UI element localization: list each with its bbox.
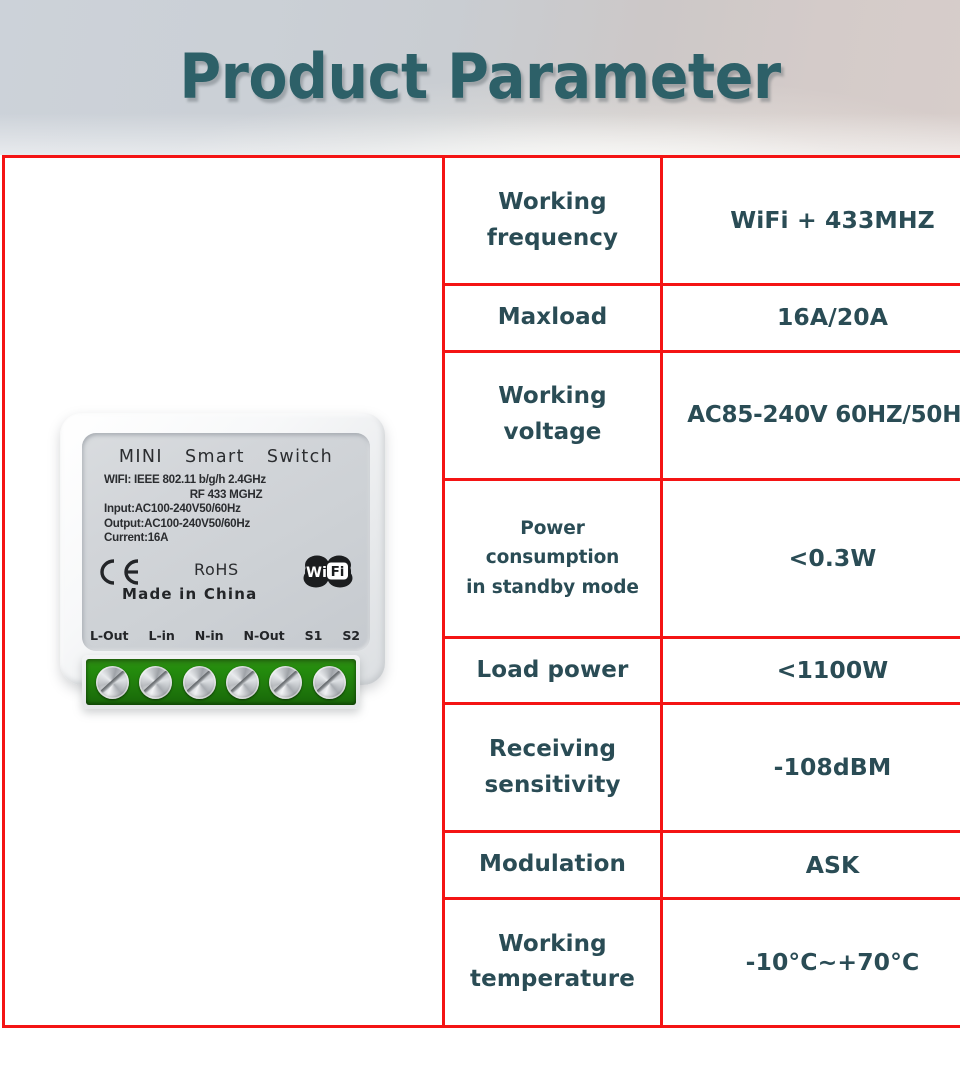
spec-label-line-1: Maxload xyxy=(451,300,654,336)
mini-smart-switch-photo: MINI Smart Switch WIFI: IEEE 802.11 b/g/… xyxy=(11,158,436,1025)
spec-label-line-2: in standby mode xyxy=(451,573,654,603)
device-spec-line-wifi: WIFI: IEEE 802.11 b/g/h 2.4GHz xyxy=(104,473,370,488)
device-brand-smart: Smart xyxy=(185,447,245,467)
spec-label-line-2: sensitivity xyxy=(451,768,654,804)
spec-value-working-temperature: -10°C~+70°C xyxy=(662,898,960,1026)
terminal-label-n-in: N-in xyxy=(195,628,224,643)
spec-label-line-2: voltage xyxy=(451,415,654,451)
device-spec-line-rf: RF 433 MGHZ xyxy=(104,488,370,503)
made-in-china-text: Made in China xyxy=(122,585,257,603)
spec-value-maxload: 16A/20A xyxy=(662,285,960,352)
terminal-screw xyxy=(269,666,302,699)
page-title: Product Parameter xyxy=(38,42,921,112)
device-body: MINI Smart Switch WIFI: IEEE 802.11 b/g/… xyxy=(54,413,399,733)
svg-text:Wi: Wi xyxy=(306,565,327,581)
device-spec-text: WIFI: IEEE 802.11 b/g/h 2.4GHz RF 433 MG… xyxy=(82,473,370,546)
product-image-cell: MINI Smart Switch WIFI: IEEE 802.11 b/g/… xyxy=(4,157,444,1027)
terminal-label-l-in: L-in xyxy=(149,628,175,643)
terminal-green-strip xyxy=(86,659,356,705)
spec-value-working-voltage: AC85-240V 60HZ/50HZ xyxy=(662,351,960,479)
spec-label-line-1: Power consumption xyxy=(451,514,654,573)
spec-label-working-frequency: Working frequency xyxy=(444,157,662,285)
terminal-screw xyxy=(313,666,346,699)
terminal-block xyxy=(82,655,360,709)
device-brand-switch: Switch xyxy=(267,447,333,467)
spec-label-line-1: Working xyxy=(451,927,654,963)
svg-text:Fi: Fi xyxy=(331,564,345,580)
spec-label-receiving-sensitivity: Receiving sensitivity xyxy=(444,704,662,832)
spec-label-maxload: Maxload xyxy=(444,285,662,352)
spec-label-line-1: Working xyxy=(451,379,654,415)
device-certification-marks: RoHS xyxy=(82,551,370,603)
spec-table-body: MINI Smart Switch WIFI: IEEE 802.11 b/g/… xyxy=(4,157,960,1027)
table-row: MINI Smart Switch WIFI: IEEE 802.11 b/g/… xyxy=(4,157,960,285)
terminal-label-s2: S2 xyxy=(342,628,360,643)
spec-label-load-power: Load power xyxy=(444,637,662,704)
device-brand-line: MINI Smart Switch xyxy=(82,447,370,467)
spec-value-working-frequency: WiFi + 433MHZ xyxy=(662,157,960,285)
spec-label-line-1: Working xyxy=(451,185,654,221)
terminal-label-row: L-Out L-in N-in N-Out S1 S2 xyxy=(82,628,370,643)
spec-label-line-1: Receiving xyxy=(451,732,654,768)
product-parameter-page: Product Parameter MINI Smart xyxy=(0,0,960,1072)
terminal-screw xyxy=(96,666,129,699)
device-brand-mini: MINI xyxy=(119,447,163,467)
spec-label-line-2: frequency xyxy=(451,221,654,257)
ce-mark-icon xyxy=(96,557,142,587)
spec-value-modulation: ASK xyxy=(662,832,960,899)
spec-value-standby-power: <0.3W xyxy=(662,479,960,637)
terminal-screw xyxy=(183,666,216,699)
spec-label-line-1: Modulation xyxy=(451,847,654,883)
spec-value-load-power: <1100W xyxy=(662,637,960,704)
terminal-label-l-out: L-Out xyxy=(90,628,128,643)
spec-value-receiving-sensitivity: -108dBM xyxy=(662,704,960,832)
spec-label-line-2: temperature xyxy=(451,962,654,998)
terminal-label-n-out: N-Out xyxy=(244,628,285,643)
spec-label-working-temperature: Working temperature xyxy=(444,898,662,1026)
terminal-label-s1: S1 xyxy=(305,628,323,643)
spec-label-standby-power: Power consumption in standby mode xyxy=(444,479,662,637)
wifi-logo-icon: Wi Fi xyxy=(300,553,356,590)
device-spec-line-output: Output:AC100-240V50/60Hz xyxy=(104,517,370,532)
device-spec-line-input: Input:AC100-240V50/60Hz xyxy=(104,502,370,517)
device-label-face: MINI Smart Switch WIFI: IEEE 802.11 b/g/… xyxy=(82,433,370,651)
terminal-screw xyxy=(226,666,259,699)
device-spec-line-current: Current:16A xyxy=(104,531,370,546)
device-shell: MINI Smart Switch WIFI: IEEE 802.11 b/g/… xyxy=(60,413,385,685)
rohs-mark: RoHS xyxy=(194,560,239,579)
spec-table: MINI Smart Switch WIFI: IEEE 802.11 b/g/… xyxy=(2,155,960,1028)
header-banner: Product Parameter xyxy=(0,0,960,155)
spec-label-working-voltage: Working voltage xyxy=(444,351,662,479)
spec-label-line-1: Load power xyxy=(451,653,654,689)
terminal-screw xyxy=(139,666,172,699)
spec-label-modulation: Modulation xyxy=(444,832,662,899)
